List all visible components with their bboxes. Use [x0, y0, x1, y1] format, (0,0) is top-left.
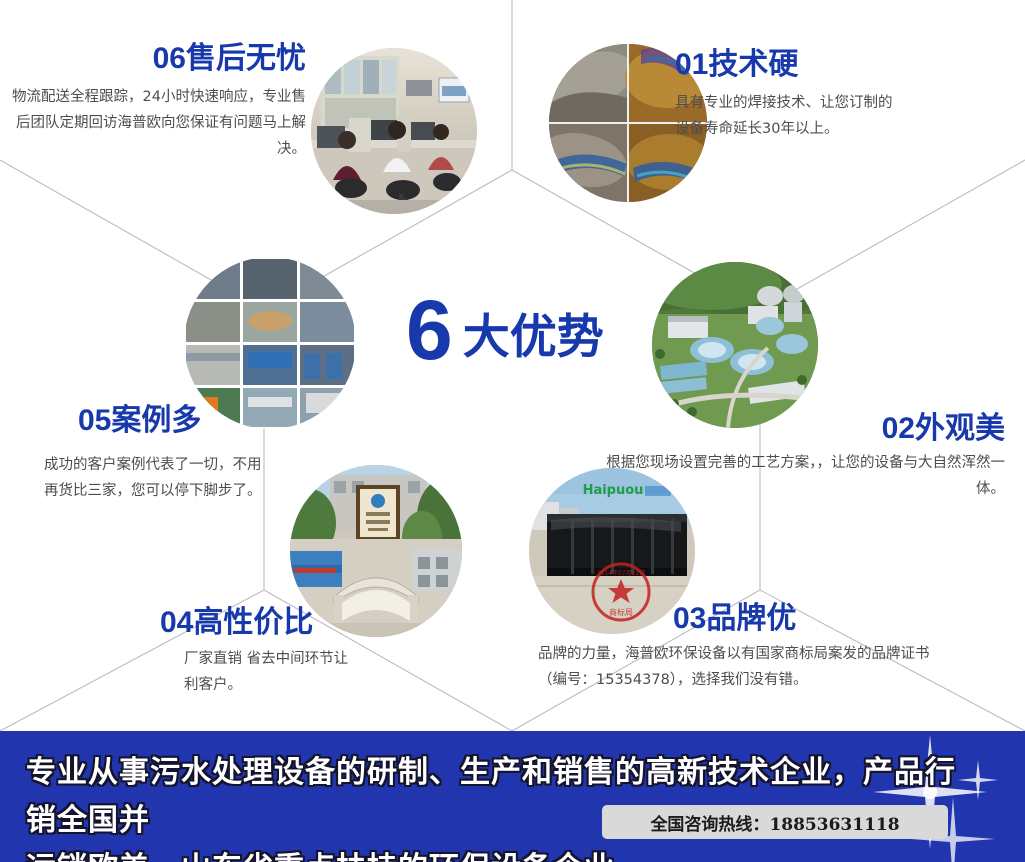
aerial-wastewater-plant-photo	[652, 262, 818, 428]
center-headline: 6大优势	[406, 288, 604, 372]
advantage-05-photo	[184, 257, 356, 429]
banner-line-2: 远销欧美，山东省重点扶持的环保设备企业。	[26, 851, 646, 862]
office-staff-photo	[311, 48, 477, 214]
advantage-06-body: 物流配送全程跟踪，24小时快速响应，专业售后团队定期回访海普欧向您保证有问题马上…	[0, 84, 306, 162]
advantage-04-heading: 04高性价比	[160, 608, 460, 638]
hotline-text: 全国咨询热线：18853631118	[650, 810, 899, 835]
advantage-01-heading: 01技术硬	[675, 50, 1005, 80]
advantage-03-body: 品牌的力量，海普欧环保设备以有国家商标局案发的品牌证书（编号：15354378）…	[538, 641, 938, 693]
advantage-05-text: 05案例多	[78, 406, 378, 436]
advantage-05-heading: 05案例多	[78, 406, 378, 436]
advantage-02-title: 外观美	[915, 411, 1005, 446]
advantages-infographic: 06售后无忧 物流配送全程跟踪，24小时快速响应，专业售后团队定期回访海普欧向您…	[0, 0, 1025, 862]
advantage-03-number: 03	[673, 602, 706, 635]
hotline-number: 18853631118	[769, 815, 899, 835]
advantage-04-body: 厂家直销 省去中间环节让利客户。	[184, 646, 360, 698]
advantage-04-text: 04高性价比	[160, 608, 460, 638]
advantage-06-heading: 06售后无忧	[0, 44, 306, 74]
advantage-01-text: 01技术硬 具有专业的焊接技术、让您订制的设备寿命延长30年以上。	[675, 50, 1005, 142]
advantage-02-photo	[652, 262, 818, 428]
advantage-05-number: 05	[78, 404, 111, 437]
advantage-05-body: 成功的客户案例代表了一切，不用再货比三家，您可以停下脚步了。	[44, 452, 266, 504]
advantage-06-title: 售后无忧	[186, 41, 306, 76]
advantage-03-photo: Haipuou 商标局 2014年07月21日	[529, 468, 695, 634]
hotline-label: 全国咨询热线：	[650, 815, 769, 835]
project-cases-collage-photo	[184, 257, 356, 429]
advantage-06-number: 06	[153, 42, 186, 75]
advantage-06-text: 06售后无忧 物流配送全程跟踪，24小时快速响应，专业售后团队定期回访海普欧向您…	[0, 44, 306, 162]
hotline-box[interactable]: 全国咨询热线：18853631118	[602, 805, 948, 839]
bottom-banner: 专业从事污水处理设备的研制、生产和销售的高新技术企业，产品行销全国并 远销欧美，…	[0, 731, 1025, 862]
advantage-03-title: 品牌优	[706, 601, 796, 636]
advantage-01-body: 具有专业的焊接技术、让您订制的设备寿命延长30年以上。	[675, 90, 900, 142]
advantage-05-title: 案例多	[111, 403, 201, 438]
advantage-03-heading: 03品牌优	[673, 604, 1013, 634]
svg-text:商标局: 商标局	[609, 607, 633, 617]
advantage-01-title: 技术硬	[708, 47, 798, 82]
advantage-01-number: 01	[675, 48, 708, 81]
advantage-02-heading: 02外观美	[595, 414, 1005, 444]
center-label-text: 大优势	[463, 310, 604, 365]
advantage-06-photo	[311, 48, 477, 214]
center-number: 6	[406, 283, 453, 377]
advantage-03-text: 03品牌优	[673, 604, 1013, 634]
advantage-04-number: 04	[160, 606, 193, 639]
black-integrated-equipment-photo: Haipuou 商标局 2014年07月21日	[529, 468, 695, 634]
svg-text:Haipuou: Haipuou	[583, 483, 644, 498]
advantage-02-number: 02	[882, 412, 915, 445]
advantage-04-title: 高性价比	[193, 605, 313, 640]
svg-text:2014年07月21日: 2014年07月21日	[597, 569, 646, 577]
